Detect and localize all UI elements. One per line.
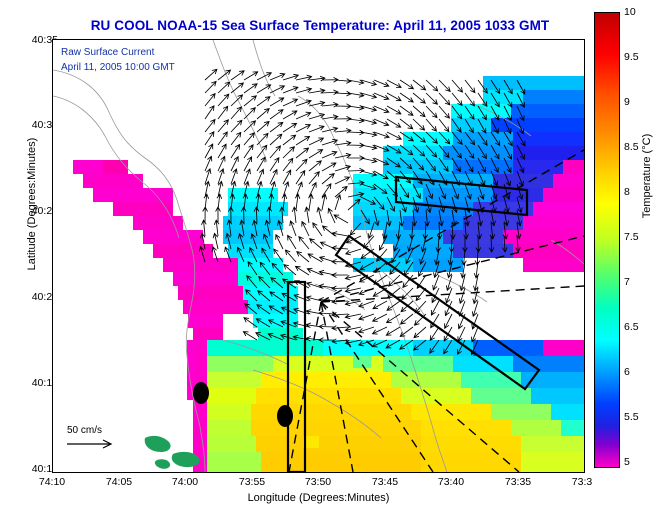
colorbar-tick-label: 8 — [624, 186, 630, 198]
x-axis-label: Longitude (Degrees:Minutes) — [52, 492, 585, 504]
scale-arrow-label: 50 cm/s — [67, 425, 102, 436]
x-tick-label: 74:05 — [89, 476, 149, 488]
map-canvas: Raw Surface Current April 11, 2005 10:00… — [53, 40, 584, 472]
x-tick-label: 73:55 — [222, 476, 282, 488]
colorbar-gradient — [595, 13, 619, 467]
colorbar-tick-label: 5.5 — [624, 411, 639, 423]
y-axis-label: Latitude (Degrees:Minutes) — [26, 94, 38, 314]
colorbar-tick-label: 7 — [624, 276, 630, 288]
map-plot-area: Raw Surface Current April 11, 2005 10:00… — [52, 39, 585, 473]
y-tick-label: 40:10 — [10, 463, 58, 475]
x-tick-label: 73:45 — [355, 476, 415, 488]
x-tick-label: 73:50 — [288, 476, 348, 488]
chart-title: RU COOL NOAA-15 Sea Surface Temperature:… — [60, 18, 580, 33]
figure-root: RU COOL NOAA-15 Sea Surface Temperature:… — [0, 0, 654, 519]
colorbar-tick-label: 7.5 — [624, 231, 639, 243]
annotation-raw-surface-current: Raw Surface Current — [61, 47, 154, 58]
colorbar-tick-label: 9.5 — [624, 51, 639, 63]
colorbar — [594, 12, 620, 468]
sst-map-svg — [53, 40, 584, 472]
colorbar-tick-label: 10 — [624, 6, 636, 18]
y-tick-label: 40:15 — [10, 377, 58, 389]
y-tick-label: 40:35 — [10, 34, 58, 46]
colorbar-label: Temperature (°C) — [641, 96, 653, 256]
x-tick-label: 74:00 — [155, 476, 215, 488]
x-tick-label: 73:35 — [488, 476, 548, 488]
x-tick-label: 74:10 — [22, 476, 82, 488]
colorbar-tick-label: 8.5 — [624, 141, 639, 153]
colorbar-tick-label: 9 — [624, 96, 630, 108]
annotation-datetime: April 11, 2005 10:00 GMT — [61, 62, 175, 73]
colorbar-tick-label: 6 — [624, 366, 630, 378]
colorbar-tick-label: 6.5 — [624, 321, 639, 333]
x-tick-label: 73:40 — [421, 476, 481, 488]
colorbar-tick-label: 5 — [624, 456, 630, 468]
x-tick-label: 73:3 — [552, 476, 612, 488]
